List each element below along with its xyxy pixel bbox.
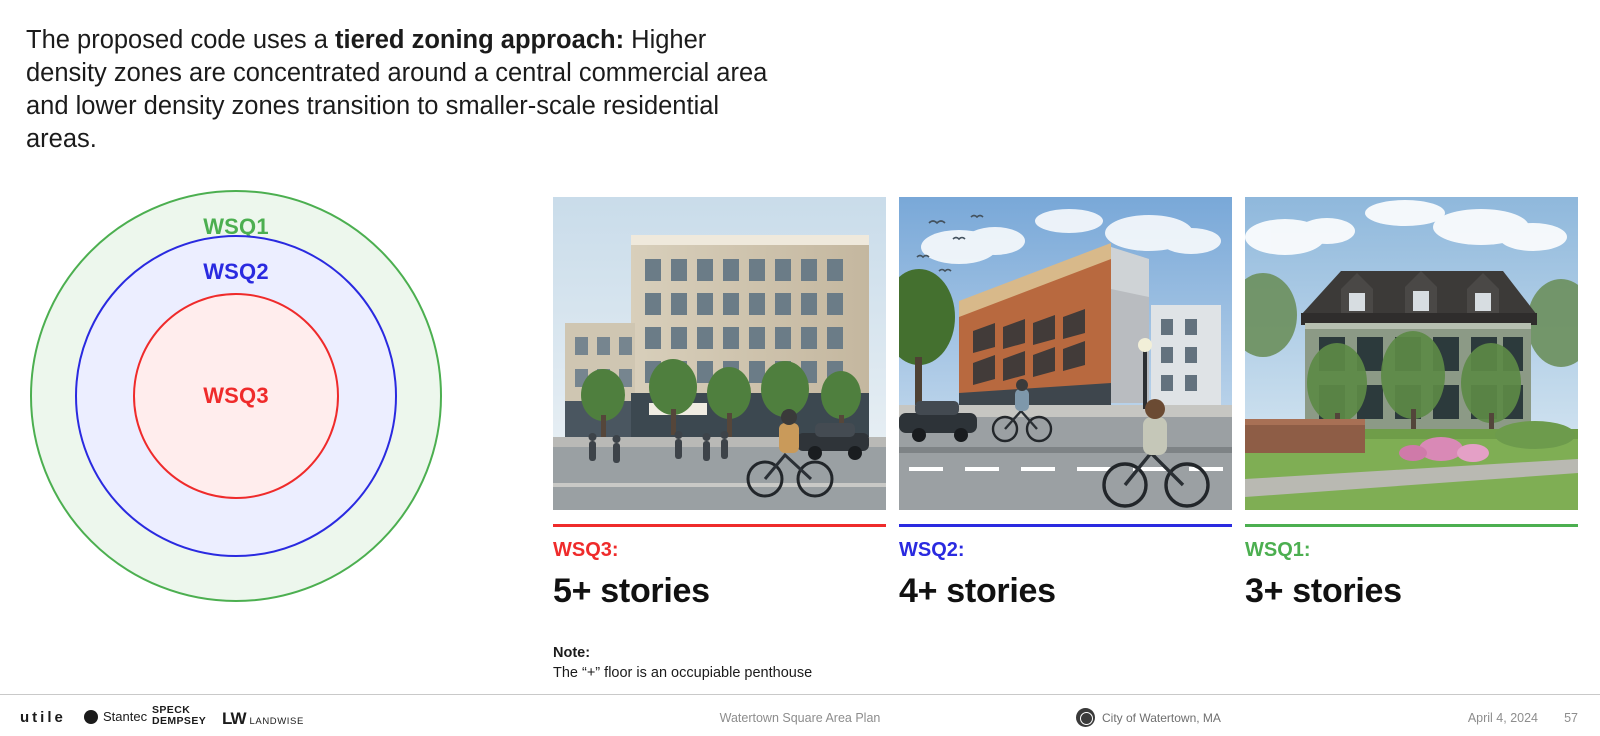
rendering-large-mixed-use-building [553, 197, 886, 510]
zone-card-wsq3: WSQ3: 5+ stories [553, 197, 886, 611]
zone-card-wsq2-rule [899, 524, 1232, 527]
rendering-small-residential-building [1245, 197, 1578, 510]
zone-card-wsq1-tag: WSQ1: [1245, 539, 1578, 562]
tiered-zoning-diagram: WSQ1 WSQ2 WSQ3 [20, 190, 490, 610]
zone-ring-wsq3: WSQ3 [133, 293, 339, 499]
footer-city: City of Watertown, MA [1076, 708, 1221, 727]
footer-project-title: Watertown Square Area Plan [0, 711, 1600, 725]
footer-city-label: City of Watertown, MA [1102, 711, 1221, 725]
zone-card-wsq2-tag: WSQ2: [899, 539, 1232, 562]
footer-page-number: 57 [1564, 711, 1578, 725]
zone-ring-wsq3-label: WSQ3 [203, 383, 269, 497]
slide: The proposed code uses a tiered zoning a… [0, 0, 1600, 736]
zone-card-wsq1-title: 3+ stories [1245, 572, 1578, 611]
headline-emphasis: tiered zoning approach: [335, 26, 624, 54]
zone-card-wsq3-rule [553, 524, 886, 527]
zone-card-wsq2: WSQ2: 4+ stories [899, 197, 1232, 611]
page-title: The proposed code uses a tiered zoning a… [26, 24, 786, 156]
note-text: The “+” floor is an occupiable penthouse [553, 663, 1013, 683]
zone-card-wsq2-title: 4+ stories [899, 572, 1232, 611]
zone-card-wsq3-title: 5+ stories [553, 572, 886, 611]
city-seal-icon [1076, 708, 1095, 727]
footer-date: April 4, 2024 [1468, 711, 1538, 725]
rendering-midrise-apartment-building [899, 197, 1232, 510]
headline-lead: The proposed code uses a [26, 26, 335, 54]
note-label: Note: [553, 643, 1013, 663]
note: Note: The “+” floor is an occupiable pen… [553, 643, 1013, 683]
zone-card-wsq1: WSQ1: 3+ stories [1245, 197, 1578, 611]
zone-card-wsq3-tag: WSQ3: [553, 539, 886, 562]
zone-card-wsq1-rule [1245, 524, 1578, 527]
footer: utile Stantec SPECK DEMPSEY LW LANDWISE … [0, 694, 1600, 736]
